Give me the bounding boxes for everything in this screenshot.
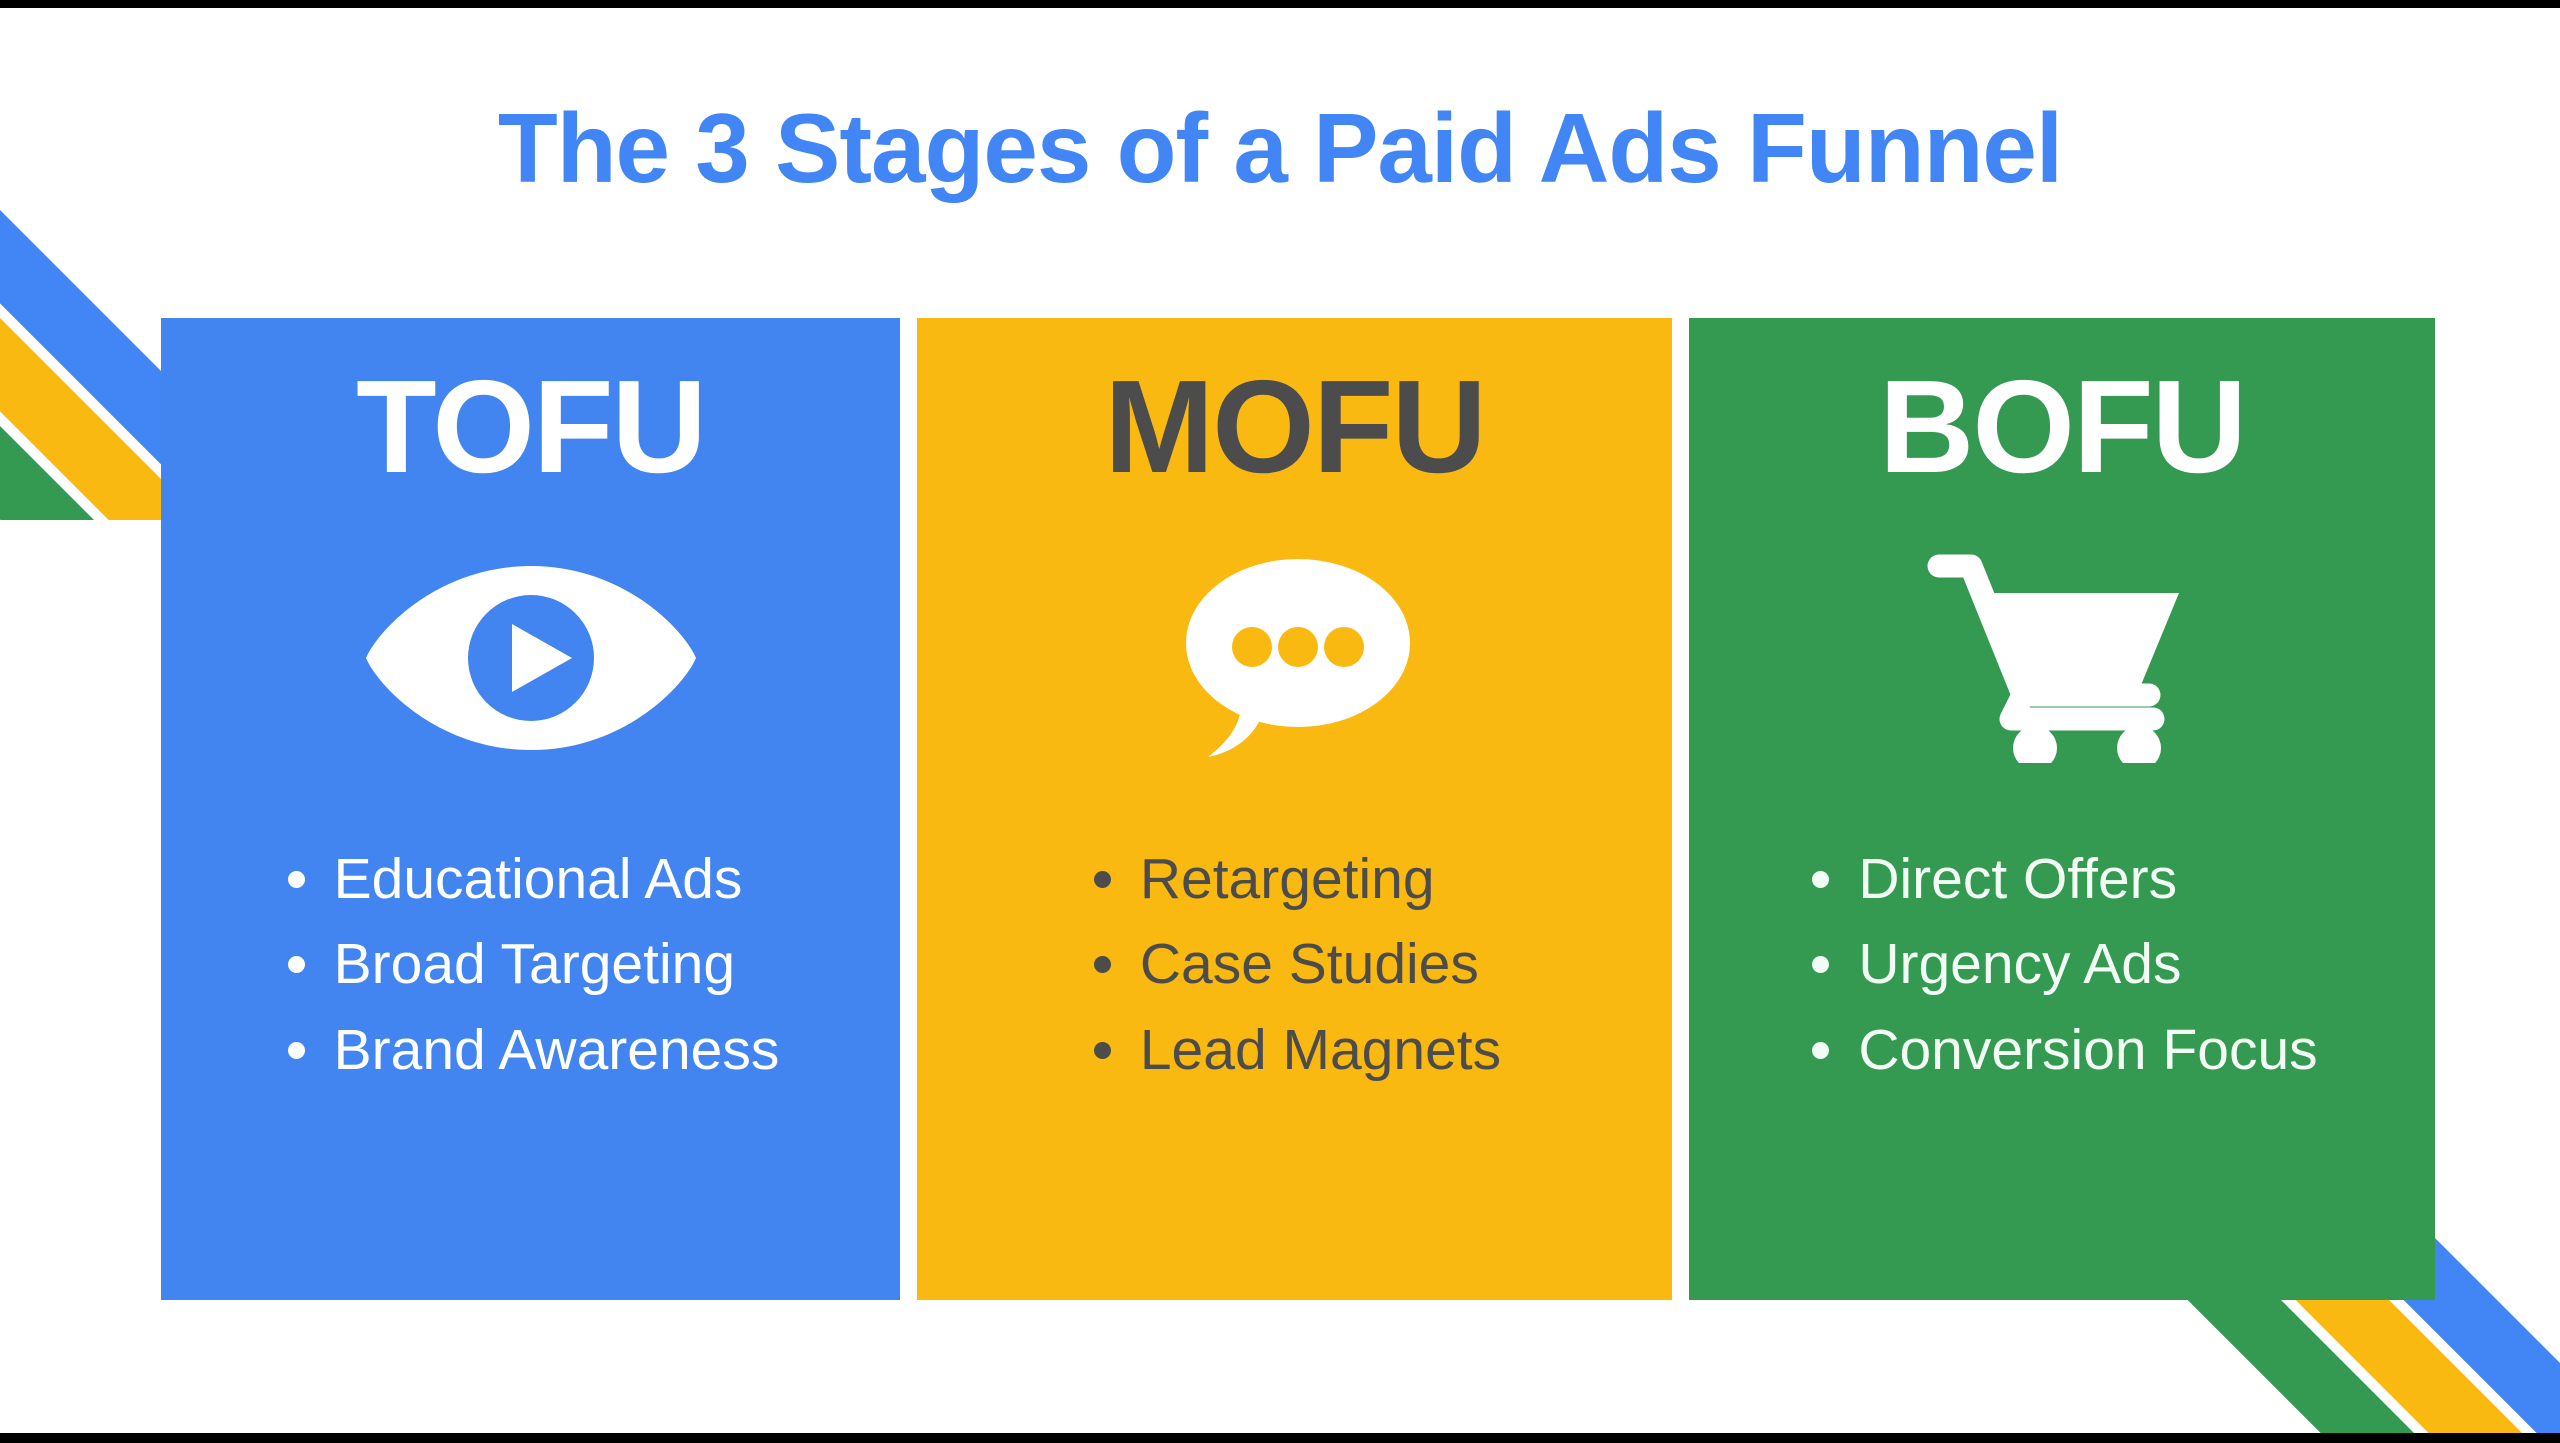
stage-heading-tofu: TOFU xyxy=(356,358,705,497)
funnel-stage-bofu[interactable]: BOFU Direct Offers Urgency Ads Conversio… xyxy=(1689,318,2435,1300)
list-item: Conversion Focus xyxy=(1806,1008,2317,1094)
speech-bubble-dots-icon xyxy=(1180,533,1410,783)
letterbox-bottom-bar xyxy=(0,1433,2560,1443)
eye-play-icon xyxy=(366,533,696,783)
list-item: Lead Magnets xyxy=(1088,1008,1501,1094)
stage-heading-mofu: MOFU xyxy=(1104,358,1485,497)
list-item: Brand Awareness xyxy=(282,1008,780,1094)
funnel-stages-row: TOFU Educational Ads Broad Targeting Bra… xyxy=(161,318,2435,1300)
funnel-stage-mofu[interactable]: MOFU Retargeting Case Studies Lead Magne… xyxy=(917,318,1672,1300)
stage-bullets-bofu: Direct Offers Urgency Ads Conversion Foc… xyxy=(1806,837,2317,1094)
funnel-stage-tofu[interactable]: TOFU Educational Ads Broad Targeting Bra… xyxy=(161,318,900,1300)
stage-bullets-tofu: Educational Ads Broad Targeting Brand Aw… xyxy=(282,837,780,1094)
stage-bullets-mofu: Retargeting Case Studies Lead Magnets xyxy=(1088,837,1501,1094)
list-item: Retargeting xyxy=(1088,837,1501,923)
list-item: Broad Targeting xyxy=(282,922,780,1008)
page-title: The 3 Stages of a Paid Ads Funnel xyxy=(0,92,2560,205)
list-item: Case Studies xyxy=(1088,922,1501,1008)
list-item: Direct Offers xyxy=(1806,837,2317,923)
infographic-canvas: The 3 Stages of a Paid Ads Funnel TOFU E… xyxy=(0,0,2560,1443)
shopping-cart-icon xyxy=(1927,533,2197,783)
list-item: Urgency Ads xyxy=(1806,922,2317,1008)
letterbox-top-bar xyxy=(0,0,2560,8)
list-item: Educational Ads xyxy=(282,837,780,923)
stage-heading-bofu: BOFU xyxy=(1879,358,2245,497)
